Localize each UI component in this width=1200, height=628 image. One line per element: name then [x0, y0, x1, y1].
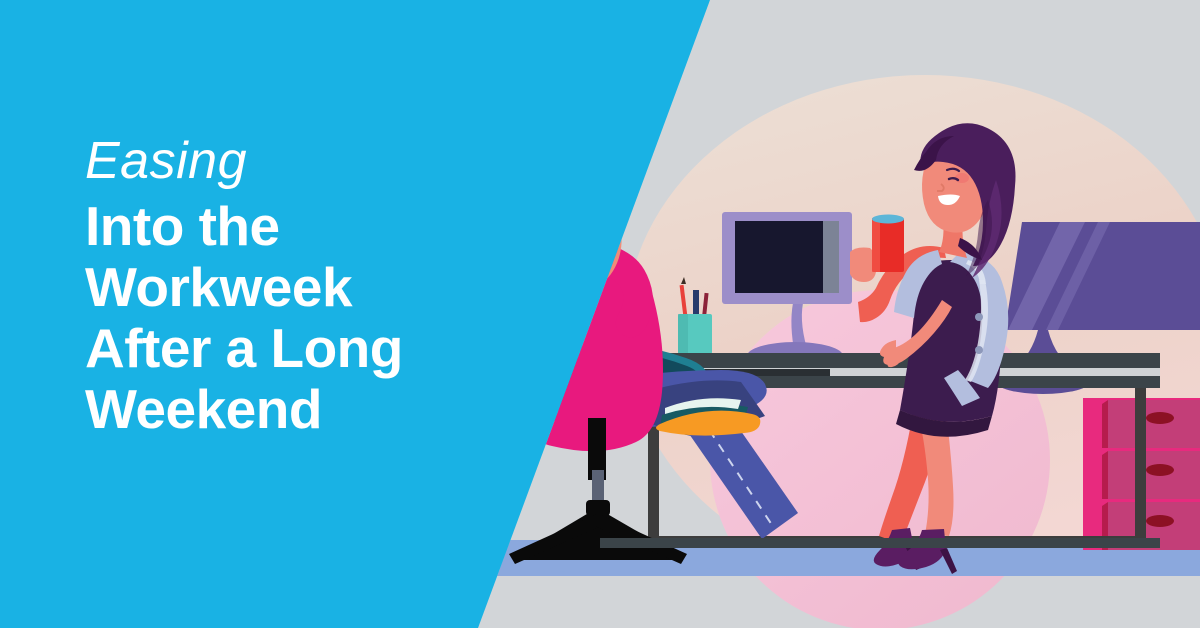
woman-blush: [955, 173, 969, 183]
cup-rim: [872, 215, 904, 224]
illustration-scene: [0, 0, 1200, 628]
blazer-button: [975, 346, 983, 354]
banner-canvas: Easing Into the Workweek After a Long We…: [0, 0, 1200, 628]
drawer-handle: [1146, 515, 1174, 527]
blazer-button: [975, 313, 983, 321]
desk-lower-rail: [600, 538, 1160, 548]
monitor-screen: [735, 221, 823, 293]
drawer-handle: [1146, 412, 1174, 424]
drawer-handle: [1146, 464, 1174, 476]
red-cup: [872, 215, 904, 273]
